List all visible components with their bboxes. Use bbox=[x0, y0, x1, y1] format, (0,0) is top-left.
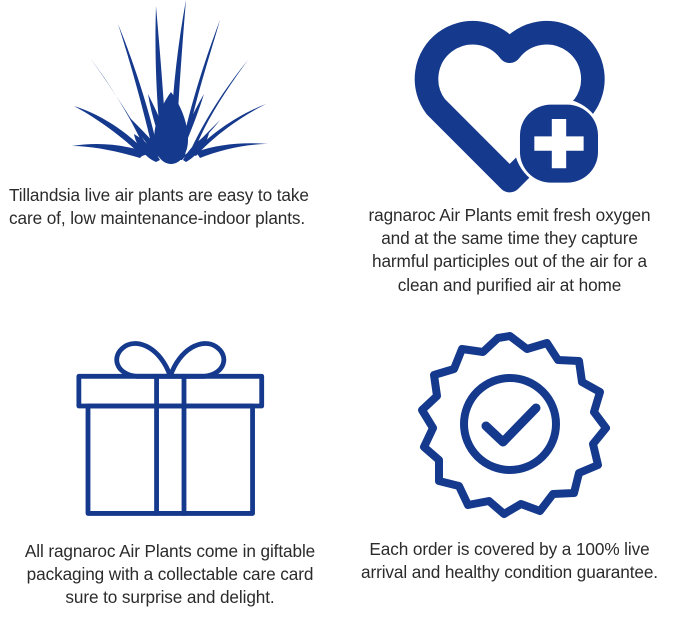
feature-grid: Tillandsia live air plants are easy to t… bbox=[0, 0, 679, 617]
feature-card-easy-care: Tillandsia live air plants are easy to t… bbox=[0, 0, 340, 308]
feature-text-line: Tillandsia live air plants are easy to t… bbox=[9, 184, 334, 207]
feature-text-line: sure to surprise and delight. bbox=[20, 586, 320, 609]
heart-plus-icon bbox=[342, 0, 677, 196]
feature-text-line: clean and purified air at home bbox=[344, 274, 675, 297]
verified-badge-icon bbox=[348, 308, 671, 524]
feature-text-line: packaging with a collectable care card bbox=[20, 563, 320, 586]
feature-text-line: Each order is covered by a 100% live bbox=[356, 538, 663, 561]
feature-text-line: ragnaroc Air Plants emit fresh oxygen bbox=[344, 204, 675, 227]
feature-text-live-arrival-guarantee: Each order is covered by a 100% live arr… bbox=[348, 538, 671, 584]
feature-text-line: care of, low maintenance-indoor plants. bbox=[9, 207, 334, 230]
gift-box-icon bbox=[6, 308, 334, 526]
feature-card-giftable-packaging: All ragnaroc Air Plants come in giftable… bbox=[0, 308, 340, 617]
feature-card-live-arrival-guarantee: Each order is covered by a 100% live arr… bbox=[340, 308, 679, 617]
feature-card-air-purifying: ragnaroc Air Plants emit fresh oxygen an… bbox=[340, 0, 679, 308]
feature-text-line: arrival and healthy condition guarantee. bbox=[356, 561, 663, 584]
feature-text-line: and at the same time they capture bbox=[344, 227, 675, 250]
feature-text-air-purifying: ragnaroc Air Plants emit fresh oxygen an… bbox=[342, 204, 677, 297]
feature-text-line: All ragnaroc Air Plants come in giftable bbox=[20, 540, 320, 563]
feature-text-giftable-packaging: All ragnaroc Air Plants come in giftable… bbox=[6, 540, 334, 610]
feature-text-line: harmful participles out of the air for a bbox=[344, 250, 675, 273]
air-plant-icon bbox=[4, 0, 336, 176]
feature-text-easy-care: Tillandsia live air plants are easy to t… bbox=[4, 184, 336, 230]
